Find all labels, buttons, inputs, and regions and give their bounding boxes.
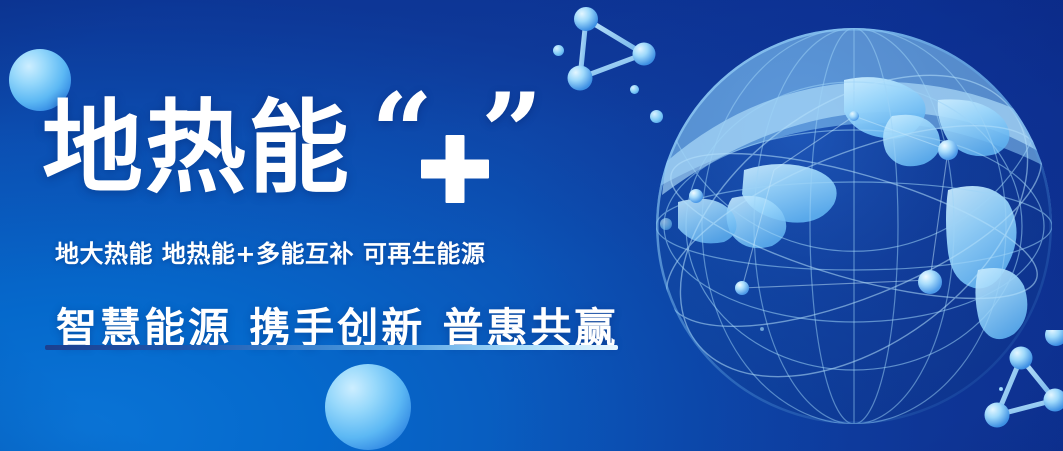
globe-graphic: [648, 20, 1060, 432]
title-row: 地热能 “ ”: [42, 97, 541, 205]
headline-block: 地热能 “ ” 地大热能 地热能+多能互补 可再生能源 智慧能源 携手创新 普惠…: [0, 0, 660, 451]
plus-icon: [421, 135, 489, 203]
quote-close-mark: ”: [481, 79, 543, 187]
quoted-plus-group: “ ”: [369, 97, 541, 205]
promotional-banner: 地热能 “ ” 地大热能 地热能+多能互补 可再生能源 智慧能源 携手创新 普惠…: [0, 0, 1063, 451]
subtitle-text: 地大热能 地热能+多能互补 可再生能源: [55, 234, 485, 269]
page-title: 地热能: [42, 97, 351, 200]
tagline-underline: [45, 345, 618, 350]
